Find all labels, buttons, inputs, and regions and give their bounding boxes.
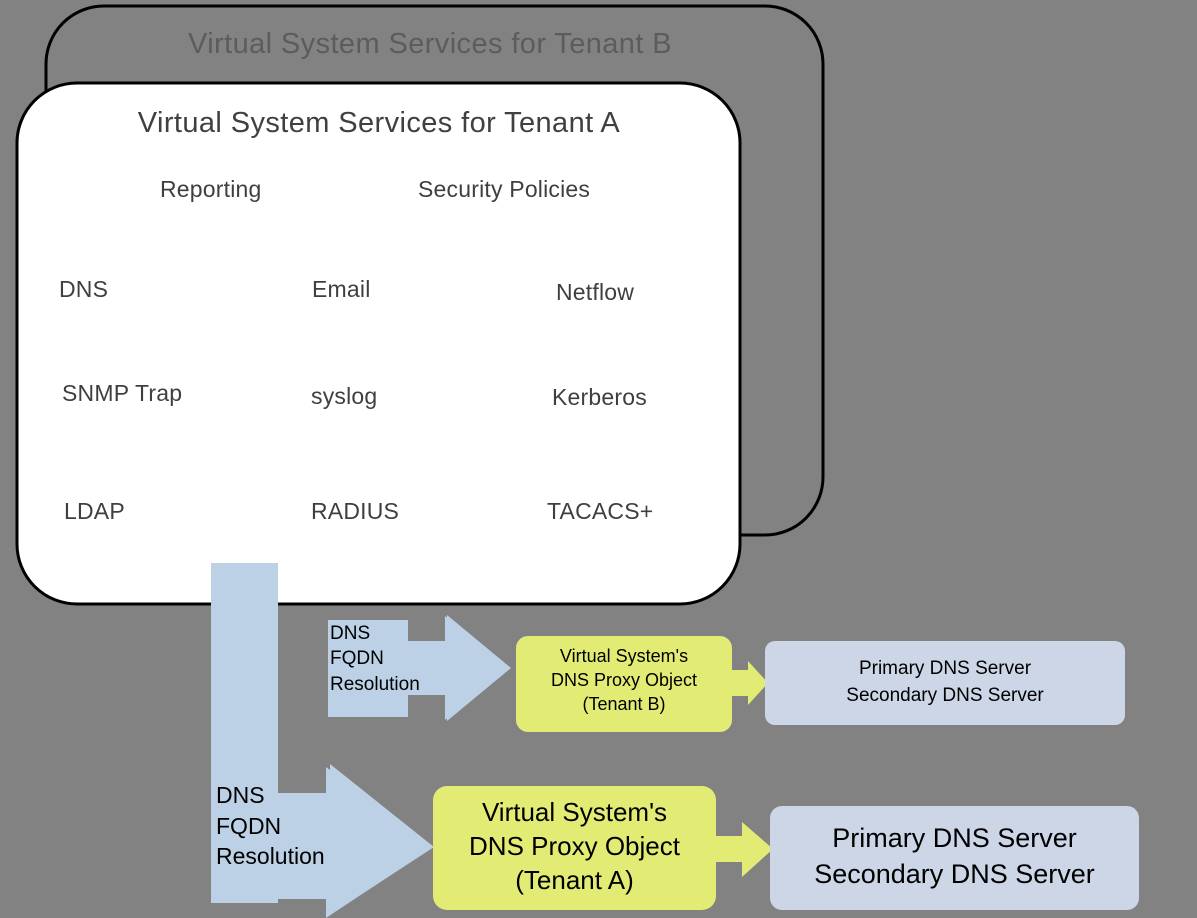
tenant-b-dns-proxy-label: Virtual System's DNS Proxy Object (Tenan… [518, 645, 730, 716]
service-label-netflow[interactable]: Netflow [556, 279, 634, 306]
service-label-tacacs-plus[interactable]: TACACS+ [547, 498, 653, 525]
tenant-a-panel-title: Virtual System Services for Tenant A [17, 107, 741, 141]
tenant-a-proxy-to-dns-arrow [709, 822, 773, 877]
service-label-reporting[interactable]: Reporting [160, 176, 262, 203]
diagram-canvas: Virtual System Services for Tenant B Vir… [0, 0, 1197, 918]
service-label-radius[interactable]: RADIUS [311, 498, 399, 525]
service-label-security-policies[interactable]: Security Policies [418, 176, 590, 203]
service-label-syslog[interactable]: syslog [311, 383, 377, 410]
tenant-b-dns-server-label: Primary DNS Server Secondary DNS Server [766, 656, 1124, 710]
service-label-dns[interactable]: DNS [59, 276, 108, 303]
tenant-a-flow-label: DNS FQDN Resolution [216, 780, 325, 872]
service-label-email[interactable]: Email [312, 276, 371, 303]
tenant-a-dns-proxy-label: Virtual System's DNS Proxy Object (Tenan… [434, 796, 715, 897]
tenant-a-panel[interactable] [17, 83, 740, 604]
tenant-a-dns-server-label: Primary DNS Server Secondary DNS Server [772, 820, 1137, 893]
tenant-b-flow-label: DNS FQDN Resolution [330, 621, 420, 697]
tenant-b-proxy-to-dns-arrow [727, 661, 768, 705]
service-label-kerberos[interactable]: Kerberos [552, 384, 647, 411]
tenant-b-panel-title: Virtual System Services for Tenant B [0, 28, 860, 62]
dns-flow-vertical-band-upper [211, 563, 278, 605]
service-label-ldap[interactable]: LDAP [64, 498, 125, 525]
service-label-snmp-trap[interactable]: SNMP Trap [62, 380, 182, 407]
